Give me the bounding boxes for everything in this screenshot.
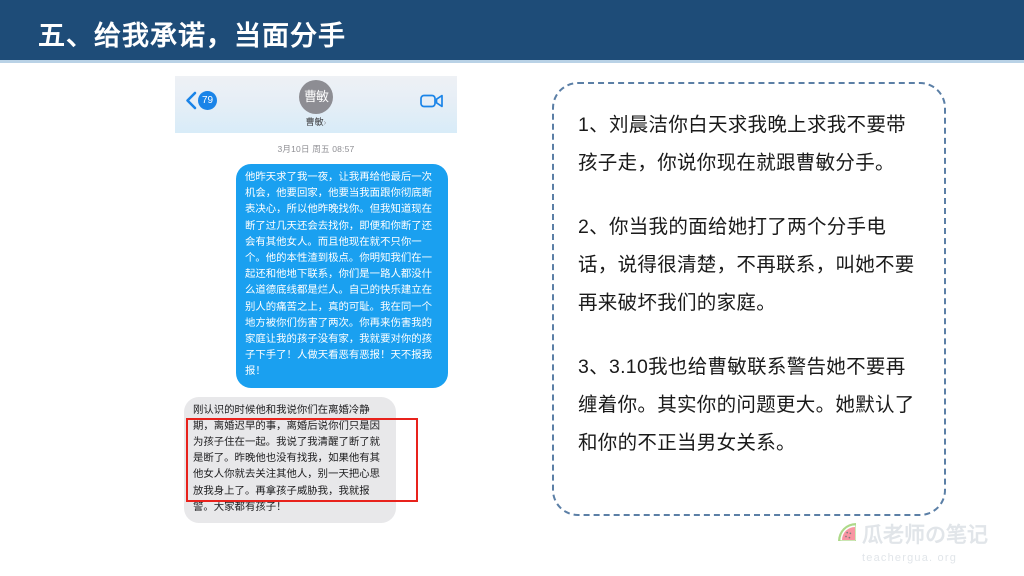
watermark: 瓜老师の笔记 teachergua. org [836, 521, 1016, 571]
annotation-panel: 1、刘晨洁你白天求我晚上求我不要带孩子走，你说你现在就跟曹敏分手。 2、你当我的… [552, 82, 946, 516]
avatar: 曹敏 [299, 80, 333, 114]
message-row-outgoing: 他昨天求了我一夜，让我再给他最后一次机会，他要回家，他要当我面跟你彻底断表决心，… [175, 164, 457, 388]
chat-topbar: 79 曹敏 曹敏› [175, 76, 457, 133]
message-bubble-outgoing[interactable]: 他昨天求了我一夜，让我再给他最后一次机会，他要回家，他要当我面跟你彻底断表决心，… [236, 164, 448, 388]
watermark-title: 瓜老师の笔记 [862, 524, 988, 548]
annotation-paragraph-2: 2、你当我的面给她打了两个分手电话，说得很清楚，不再联系，叫她不要再来破坏我们的… [578, 208, 922, 322]
watermark-row: 瓜老师の笔记 [836, 521, 1016, 550]
slide-header-underline [0, 60, 1024, 63]
message-row-incoming: 刚认识的时候他和我说你们在离婚冷静期，离婚迟早的事，离婚后说你们只是因为孩子住在… [175, 397, 457, 523]
message-bubble-incoming[interactable]: 刚认识的时候他和我说你们在离婚冷静期，离婚迟早的事，离婚后说你们只是因为孩子住在… [184, 397, 396, 523]
chat-screenshot: 79 曹敏 曹敏› 3月10日 周五 08:57 他昨天求了我一夜，让我再给他最… [175, 76, 457, 525]
chat-message-list: 3月10日 周五 08:57 他昨天求了我一夜，让我再给他最后一次机会，他要回家… [175, 133, 457, 525]
chat-timestamp: 3月10日 周五 08:57 [175, 133, 457, 164]
message-spacer [175, 388, 457, 397]
contact-name-label: 曹敏 [306, 117, 324, 127]
page-title: 五、给我承诺，当面分手 [38, 14, 346, 53]
chevron-right-icon: › [324, 118, 327, 127]
contact-name-row: 曹敏› [175, 115, 457, 128]
annotation-paragraph-3: 3、3.10我也给曹敏联系警告她不要再缠着你。其实你的问题更大。她默认了和你的不… [578, 348, 922, 462]
annotation-paragraph-1: 1、刘晨洁你白天求我晚上求我不要带孩子走，你说你现在就跟曹敏分手。 [578, 106, 922, 182]
watermelon-icon [836, 521, 860, 550]
contact-header[interactable]: 曹敏 曹敏› [175, 80, 457, 128]
video-camera-icon[interactable] [420, 93, 444, 109]
watermark-url: teachergua. org [862, 552, 1016, 564]
